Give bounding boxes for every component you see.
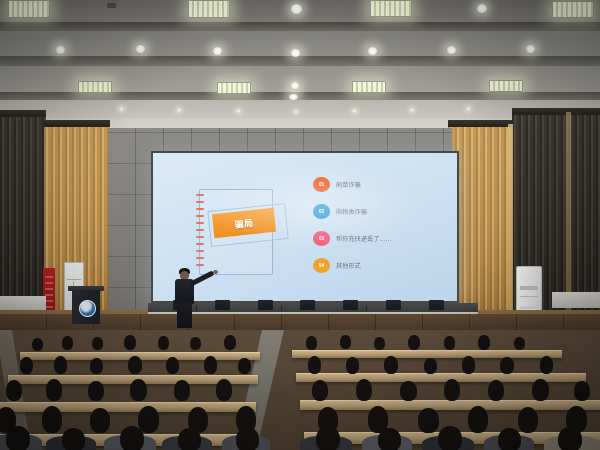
ceiling-downlight bbox=[368, 47, 377, 55]
audience-head bbox=[488, 380, 504, 401]
panel-light bbox=[352, 81, 386, 93]
bullet-label: 刷单诈骗 bbox=[336, 180, 361, 189]
audience-head bbox=[574, 381, 590, 401]
speaker-hand bbox=[213, 270, 218, 274]
ceiling-downlight bbox=[526, 45, 535, 53]
list-item: 03 帮你充快递丢了…… bbox=[313, 231, 392, 246]
panel-light bbox=[8, 0, 50, 18]
audience-head bbox=[32, 338, 43, 351]
audience-head bbox=[130, 379, 147, 401]
audience-head bbox=[88, 381, 104, 401]
audience-head bbox=[238, 358, 251, 374]
audience-head bbox=[224, 335, 236, 350]
audience-head bbox=[514, 337, 525, 350]
bullet-badge: 04 bbox=[313, 258, 330, 273]
bullet-label: 购物类诈骗 bbox=[336, 207, 367, 216]
audience-head bbox=[158, 336, 169, 350]
audience-head bbox=[340, 335, 351, 349]
audience-head bbox=[236, 427, 259, 450]
audience-head bbox=[178, 428, 201, 450]
audience-head bbox=[384, 356, 398, 374]
audience-head bbox=[418, 408, 439, 433]
bullet-badge: 01 bbox=[313, 177, 330, 192]
stage-chair bbox=[386, 300, 401, 310]
audience-head bbox=[308, 356, 321, 374]
audience-head bbox=[90, 408, 110, 433]
ceiling-downlight bbox=[236, 109, 241, 113]
audience-head bbox=[374, 337, 385, 350]
audience-head bbox=[540, 356, 553, 374]
audience-head bbox=[46, 379, 62, 401]
ceiling-vent bbox=[107, 3, 116, 8]
audience-head bbox=[468, 406, 488, 433]
curtain-dark-left bbox=[0, 110, 46, 325]
audience-head bbox=[444, 336, 455, 350]
auditorium-photo: 骗局 01 刷单诈骗 02 购物类诈骗 03 帮你充快递丢了…… 04 其他形式 bbox=[0, 0, 600, 450]
audience-head bbox=[306, 336, 317, 350]
desk-row bbox=[300, 400, 600, 410]
audience-head bbox=[62, 336, 73, 350]
slide-bullet-list: 01 刷单诈骗 02 购物类诈骗 03 帮你充快递丢了…… 04 其他形式 bbox=[313, 175, 453, 285]
audience-head bbox=[216, 379, 232, 401]
ceiling-downlight bbox=[352, 109, 357, 113]
ceiling-downlight bbox=[466, 107, 471, 111]
panel-light bbox=[78, 81, 112, 93]
ceiling-downlight bbox=[447, 46, 456, 54]
ceiling-beam bbox=[0, 22, 600, 31]
stage-chair bbox=[429, 300, 444, 310]
panel-light bbox=[217, 82, 251, 94]
stage-chair bbox=[258, 300, 273, 310]
panel-light bbox=[489, 80, 523, 92]
audience-head bbox=[400, 381, 417, 401]
audience-head bbox=[6, 380, 22, 401]
audience-head bbox=[378, 428, 401, 450]
audience-head bbox=[424, 358, 437, 374]
audience-head bbox=[138, 406, 159, 433]
ceiling-downlight bbox=[294, 110, 298, 114]
desk-row bbox=[0, 402, 256, 412]
side-low-wall bbox=[552, 292, 600, 308]
stage-chair bbox=[300, 300, 315, 310]
ceiling-downlight bbox=[291, 4, 302, 14]
audience-head bbox=[356, 379, 372, 401]
audience-head bbox=[20, 357, 33, 374]
audience-head bbox=[408, 335, 420, 350]
desk-row bbox=[292, 350, 562, 358]
ceiling-downlight bbox=[136, 45, 145, 53]
panel-light bbox=[188, 0, 230, 18]
audience-head bbox=[204, 356, 217, 374]
ceiling-beam bbox=[0, 56, 600, 66]
audience-head bbox=[190, 337, 201, 350]
speaker-legs bbox=[177, 303, 192, 328]
ceiling-downlight bbox=[410, 108, 414, 112]
list-item: 01 刷单诈骗 bbox=[313, 177, 361, 192]
curtain-rail bbox=[0, 110, 46, 117]
audience-head bbox=[498, 428, 521, 450]
audience-head bbox=[174, 380, 190, 401]
podium-emblem bbox=[79, 300, 96, 317]
audience-head bbox=[478, 335, 490, 350]
audience-seating-area bbox=[0, 330, 600, 450]
audience-head bbox=[128, 356, 142, 374]
curtain-rail bbox=[448, 120, 514, 127]
ceiling-downlight bbox=[291, 49, 300, 57]
ceiling-downlight bbox=[119, 107, 124, 111]
curtain-rail bbox=[512, 108, 600, 115]
curtain-light-gap bbox=[566, 112, 571, 312]
curtain-rail bbox=[44, 120, 110, 127]
audience-head bbox=[462, 356, 475, 374]
audience-head bbox=[518, 407, 538, 433]
audience-head bbox=[42, 406, 62, 433]
audience-head bbox=[54, 356, 67, 374]
audience-head bbox=[124, 335, 136, 350]
bullet-badge: 03 bbox=[313, 231, 330, 246]
audience-head bbox=[120, 426, 144, 450]
ceiling-downlight bbox=[291, 82, 299, 89]
side-low-wall bbox=[0, 296, 46, 310]
audience-head bbox=[346, 357, 359, 374]
audience-head bbox=[532, 379, 549, 401]
speaker-figure bbox=[168, 268, 224, 328]
table-microphone bbox=[366, 305, 367, 311]
ceiling-downlight bbox=[213, 47, 222, 55]
list-item: 02 购物类诈骗 bbox=[313, 204, 367, 219]
panel-light bbox=[370, 0, 412, 17]
audience-head bbox=[90, 358, 103, 374]
audience-head bbox=[92, 337, 103, 350]
audience-head bbox=[6, 426, 30, 450]
bullet-label: 其他形式 bbox=[336, 261, 361, 270]
audience-head bbox=[558, 427, 582, 450]
audience-head bbox=[312, 380, 328, 401]
ceiling-downlight bbox=[56, 46, 65, 54]
ceiling bbox=[0, 0, 600, 118]
curtain-light-gap bbox=[508, 124, 513, 314]
audience-head bbox=[444, 379, 460, 401]
audience-head bbox=[500, 357, 514, 374]
bullet-badge: 02 bbox=[313, 204, 330, 219]
audience-head bbox=[316, 426, 340, 450]
audience-head bbox=[62, 428, 85, 450]
audience-head bbox=[438, 426, 462, 450]
table-microphone bbox=[281, 305, 282, 311]
audience-head bbox=[166, 357, 179, 374]
ceiling-downlight bbox=[477, 4, 487, 13]
panel-light bbox=[552, 1, 594, 18]
stage-chair bbox=[343, 300, 358, 310]
ceiling-downlight bbox=[177, 108, 181, 112]
bullet-label: 帮你充快递丢了…… bbox=[336, 234, 392, 243]
notebook-spiral-icon bbox=[196, 192, 204, 272]
list-item: 04 其他形式 bbox=[313, 258, 361, 273]
